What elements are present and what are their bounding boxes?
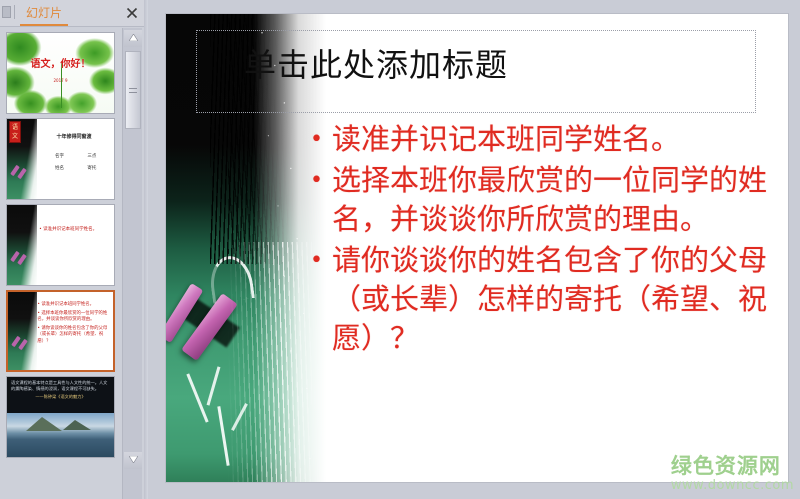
slide-thumbnail-4[interactable]: • 读准并识记本班同学姓名。 • 选择本班你最欣赏的一位同学的姓名，并谈谈你所欣… [6, 290, 115, 372]
thumbnail-row-1: 名字 三点 [43, 153, 108, 159]
thumbnail-bullet-line: • 读准并识记本班同学姓名。 [39, 226, 110, 232]
thumbnail-cell-d: 寄托 [87, 165, 96, 171]
thumbnail-chalk-strip [7, 205, 37, 285]
bullet-item[interactable]: 读准并识记本班同学姓名。 [308, 120, 778, 159]
thumbnail-scrollbar[interactable] [122, 28, 142, 499]
close-icon[interactable] [124, 5, 140, 21]
thumbnail-bullet-2: • 选择本班你最欣赏的一位同学的姓名，并谈谈你所欣赏的理由。 [37, 311, 110, 324]
chalk-stick-icon [18, 339, 28, 350]
slides-panel: 幻灯片 语文，你好！ 2017 9 语文 [0, 0, 148, 499]
scroll-up-button[interactable] [124, 30, 142, 47]
grip-line [129, 92, 137, 93]
mountain-shape [63, 420, 91, 430]
page-title[interactable]: 单击此处添加标题 [244, 40, 508, 86]
thumbnail-row-2: 姓名 寄托 [43, 165, 108, 171]
thumbnail-bullet-lines: • 读准并识记本班同学姓名。 • 选择本班你最欣赏的一位同学的姓名，并谈谈你所欣… [37, 302, 110, 347]
thumbnail-title: 语文，你好！ [7, 55, 114, 70]
thumbnail-chalk-strip [8, 292, 37, 370]
slide-thumbnail-3[interactable]: • 读准并识记本班同学姓名。 [6, 204, 115, 286]
slide-thumbnail-5[interactable]: 语文课程的基本特点是工具性与人文性的统一。人文的熏陶感染、情感的浸润，语文课程不… [6, 376, 115, 458]
thumbnail-bullet-3: • 请你谈谈你的姓名包含了你的父母（或长辈）怎样的寄托（希望、祝愿）？ [37, 326, 110, 346]
document-icon [2, 6, 11, 18]
thumbnail-cell-b: 三点 [87, 153, 96, 159]
thumbnail-date: 2017 9 [7, 78, 114, 83]
thumbnail-cell-c: 姓名 [55, 165, 64, 171]
thumbnail-quote: 语文课程的基本特点是工具性与人文性的统一。人文的熏陶感染、情感的浸润，语文课程不… [11, 380, 110, 392]
tab-divider [14, 5, 15, 19]
chalk-stick-icon [17, 168, 27, 179]
slide-thumbnail-list[interactable]: 语文，你好！ 2017 9 语文 十年修得同窗渡 名字 三点 姓名 寄托 [0, 28, 120, 499]
panel-tabbar: 幻灯片 [0, 0, 148, 27]
slide-thumbnail-2[interactable]: 语文 十年修得同窗渡 名字 三点 姓名 寄托 [6, 118, 115, 200]
body-placeholder[interactable]: 读准并识记本班同学姓名。 选择本班你最欣赏的一位同学的姓名，并谈谈你所欣赏的理由… [308, 120, 778, 460]
thumbnail-quote-attribution: ——陈钟梁《语文的魅力》 [11, 394, 110, 400]
thumbnail-heading: 十年修得同窗渡 [37, 133, 111, 140]
mountain-shape [26, 417, 62, 431]
tab-slides[interactable]: 幻灯片 [20, 2, 68, 26]
bullet-item[interactable]: 请你谈谈你的姓名包含了你的父母（或长辈）怎样的寄托（希望、祝愿）？ [308, 241, 778, 358]
bullet-item[interactable]: 选择本班你最欣赏的一位同学的姓名，并谈谈你所欣赏的理由。 [308, 161, 778, 239]
chalk-stick-icon [17, 254, 27, 265]
thumbnail-cell-a: 名字 [55, 153, 64, 159]
thumbnail-landscape-photo [7, 413, 114, 457]
thumbnail-bullet-1: • 读准并识记本班同学姓名。 [37, 302, 110, 309]
scroll-down-button[interactable] [124, 452, 142, 469]
slide-canvas-area: 单击此处添加标题 读准并识记本班同学姓名。 选择本班你最欣赏的一位同学的姓名，并… [148, 0, 800, 499]
scrollbar-thumb[interactable] [125, 51, 141, 129]
thumbnail-quote-block: 语文课程的基本特点是工具性与人文性的统一。人文的熏陶感染、情感的浸润，语文课程不… [7, 377, 114, 413]
presentation-viewer-window: 幻灯片 语文，你好！ 2017 9 语文 [0, 0, 800, 499]
thumbnail-badge: 语文 [9, 121, 21, 143]
slide-thumbnail-1[interactable]: 语文，你好！ 2017 9 [6, 32, 115, 114]
grip-line [129, 88, 137, 89]
current-slide[interactable]: 单击此处添加标题 读准并识记本班同学姓名。 选择本班你最欣赏的一位同学的姓名，并… [166, 14, 788, 482]
